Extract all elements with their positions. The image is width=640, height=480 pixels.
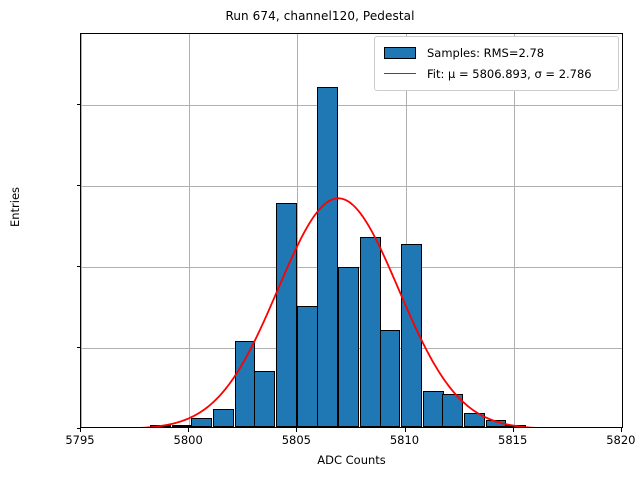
chart-title: Run 674, channel120, Pedestal xyxy=(0,9,640,23)
x-tick-label: 5805 xyxy=(282,433,311,447)
legend-label-samples: Samples: RMS=2.78 xyxy=(427,46,544,60)
y-tick-mark xyxy=(77,185,81,186)
y-tick-mark xyxy=(77,104,81,105)
x-tick-mark xyxy=(188,428,189,432)
legend-item-fit: Fit: μ = 5806.893, σ = 2.786 xyxy=(382,63,611,84)
x-tick-mark xyxy=(621,428,622,432)
x-tick-label: 5810 xyxy=(390,433,419,447)
x-tick-mark xyxy=(405,428,406,432)
x-tick-mark xyxy=(513,428,514,432)
fit-path xyxy=(81,198,623,428)
y-axis-label: Entries xyxy=(8,127,22,287)
legend-patch-icon xyxy=(382,46,418,60)
legend-label-fit: Fit: μ = 5806.893, σ = 2.786 xyxy=(427,67,592,81)
legend-item-samples: Samples: RMS=2.78 xyxy=(382,42,611,63)
x-tick-label: 5820 xyxy=(606,433,635,447)
y-tick-mark xyxy=(77,428,81,429)
y-tick-mark xyxy=(77,266,81,267)
histogram-figure: Run 674, channel120, Pedestal 5795580058… xyxy=(0,0,640,480)
x-tick-mark xyxy=(80,428,81,432)
x-tick-mark xyxy=(296,428,297,432)
plot-area xyxy=(80,33,623,428)
y-tick-mark xyxy=(77,347,81,348)
x-tick-label: 5815 xyxy=(498,433,527,447)
gaussian-fit-curve xyxy=(81,34,622,427)
x-axis-label: ADC Counts xyxy=(80,453,623,467)
legend: Samples: RMS=2.78 Fit: μ = 5806.893, σ =… xyxy=(374,36,619,91)
x-tick-label: 5800 xyxy=(174,433,203,447)
legend-line-icon xyxy=(382,67,418,81)
x-tick-label: 5795 xyxy=(65,433,94,447)
